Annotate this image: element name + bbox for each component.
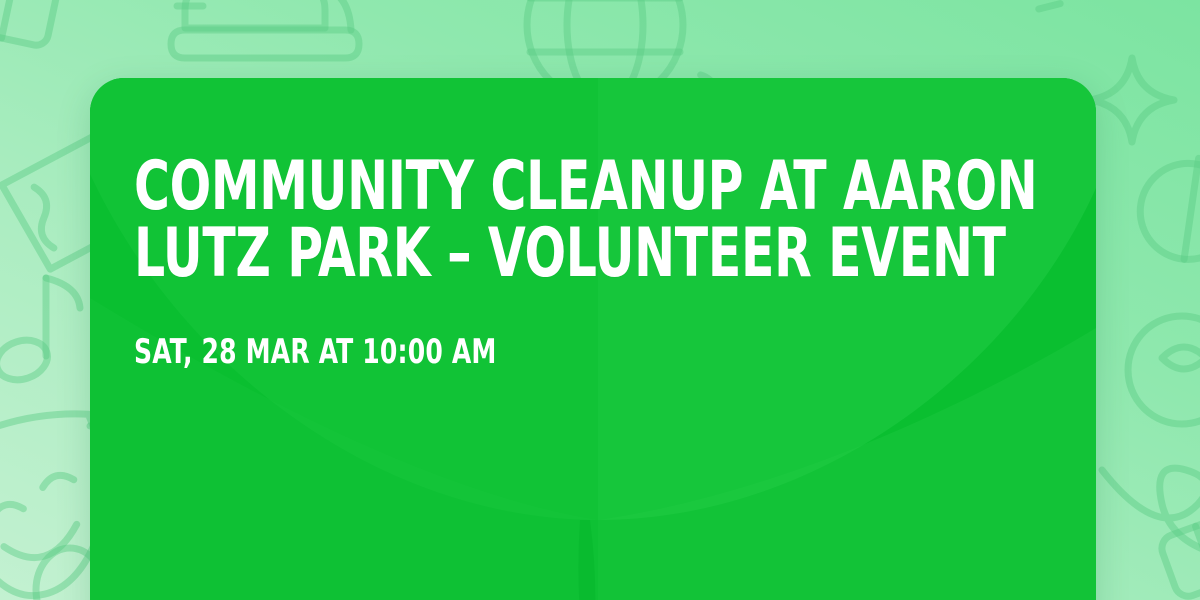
ticket-stub-icon <box>0 0 58 47</box>
spectacles-icon <box>994 0 1180 16</box>
podium-icon <box>171 0 359 58</box>
music-note-icon <box>0 278 80 386</box>
confetti-swirl-icon <box>1102 468 1200 558</box>
event-banner: COMMUNITY CLEANUP AT AARON LUTZ PARK – V… <box>0 0 1200 600</box>
ticket-small-icon <box>1158 502 1200 600</box>
microphone-icon <box>1121 127 1200 294</box>
event-title: COMMUNITY CLEANUP AT AARON LUTZ PARK – V… <box>134 154 1052 287</box>
event-card[interactable]: COMMUNITY CLEANUP AT AARON LUTZ PARK – V… <box>90 78 1096 600</box>
gift-icon <box>1128 316 1200 424</box>
card-content: COMMUNITY CLEANUP AT AARON LUTZ PARK – V… <box>134 154 1052 369</box>
sparkle-icon <box>1090 58 1174 142</box>
event-datetime: SAT, 28 MAR AT 10:00 AM <box>134 335 1052 369</box>
